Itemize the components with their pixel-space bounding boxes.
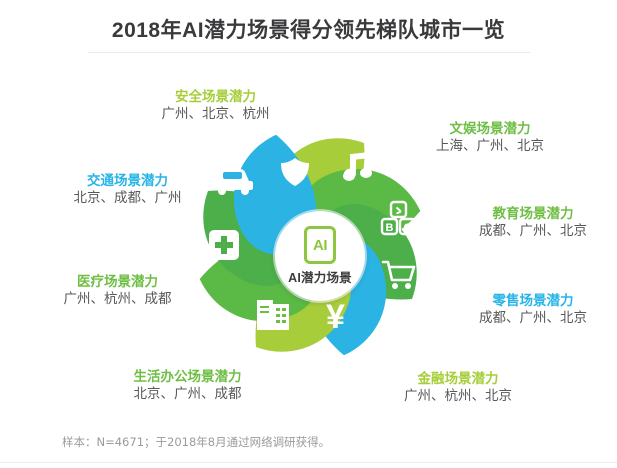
label-traffic-cities: 北京、成都、广州 xyxy=(40,189,215,208)
label-culture[interactable]: 文娱场景潜力 上海、广州、北京 xyxy=(400,120,580,156)
footnote: 样本：N=4671；于2018年8月通过网络调研获得。 xyxy=(62,434,330,450)
label-retail-cities: 成都、广州、北京 xyxy=(448,309,617,328)
yen-icon: ¥ xyxy=(326,298,345,336)
hub-center[interactable]: AI AI潜力场景 xyxy=(275,211,365,301)
hub-label: AI潜力场景 xyxy=(288,267,352,286)
label-traffic[interactable]: 交通场景潜力 北京、成都、广州 xyxy=(40,172,215,208)
label-finance[interactable]: 金融场景潜力 广州、杭州、北京 xyxy=(368,370,548,406)
label-finance-title: 金融场景潜力 xyxy=(368,370,548,387)
label-culture-title: 文娱场景潜力 xyxy=(400,120,580,137)
medical-cross-icon xyxy=(209,230,239,260)
title-divider xyxy=(88,52,530,53)
ai-badge-icon: AI xyxy=(304,226,336,264)
label-traffic-title: 交通场景潜力 xyxy=(40,172,215,189)
office-building-icon xyxy=(257,300,289,330)
bottom-divider xyxy=(0,462,617,463)
label-retail[interactable]: 零售场景潜力 成都、广州、北京 xyxy=(448,292,617,328)
label-education[interactable]: 教育场景潜力 成都、广州、北京 xyxy=(448,205,617,241)
label-medical-cities: 广州、杭州、成都 xyxy=(30,290,205,309)
label-safety-cities: 广州、北京、杭州 xyxy=(128,105,303,124)
label-office-title: 生活办公场景潜力 xyxy=(100,368,275,385)
label-education-cities: 成都、广州、北京 xyxy=(448,222,617,241)
svg-text:C: C xyxy=(404,222,412,234)
label-safety-title: 安全场景潜力 xyxy=(128,88,303,105)
label-culture-cities: 上海、广州、北京 xyxy=(400,137,580,156)
label-education-title: 教育场景潜力 xyxy=(448,205,617,222)
label-medical[interactable]: 医疗场景潜力 广州、杭州、成都 xyxy=(30,273,205,309)
label-retail-title: 零售场景潜力 xyxy=(448,292,617,309)
svg-text:¥: ¥ xyxy=(326,298,345,336)
page-title: 2018年AI潜力场景得分领先梯队城市一览 xyxy=(0,14,617,44)
label-office[interactable]: 生活办公场景潜力 北京、广州、成都 xyxy=(100,368,275,404)
label-finance-cities: 广州、杭州、北京 xyxy=(368,387,548,406)
svg-text:B: B xyxy=(386,222,394,234)
ai-badge-text: AI xyxy=(313,238,327,253)
label-office-cities: 北京、广州、成都 xyxy=(100,385,275,404)
label-medical-title: 医疗场景潜力 xyxy=(30,273,205,290)
label-safety[interactable]: 安全场景潜力 广州、北京、杭州 xyxy=(128,88,303,124)
